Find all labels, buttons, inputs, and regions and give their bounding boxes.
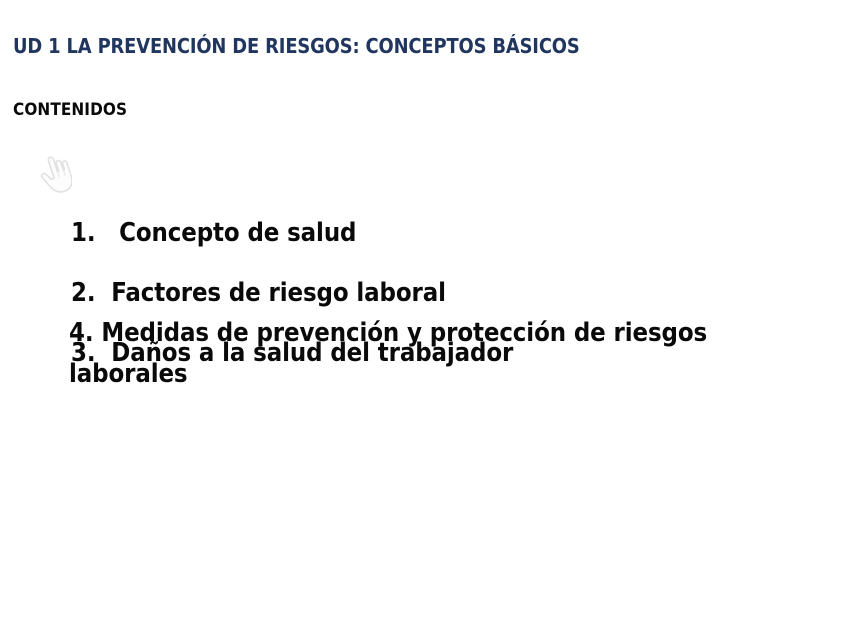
list-item-label: 4. Medidas de prevención y protección de… <box>69 313 779 395</box>
contents-list: 1. Concepto de salud 2. Factores de ries… <box>0 133 848 395</box>
section-label-contenidos: CONTENIDOS <box>13 99 127 121</box>
slide-canvas: UD 1 LA PREVENCIÓN DE RIESGOS: CONCEPTOS… <box>0 0 848 636</box>
list-item[interactable]: 3. Daños a la salud del trabajador <box>0 253 848 313</box>
page-title: UD 1 LA PREVENCIÓN DE RIESGOS: CONCEPTOS… <box>13 33 789 59</box>
list-item[interactable]: 4. Medidas de prevención y protección de… <box>0 313 779 395</box>
list-item[interactable]: 2. Factores de riesgo laboral <box>0 193 848 253</box>
list-item[interactable]: 1. Concepto de salud <box>0 133 848 193</box>
